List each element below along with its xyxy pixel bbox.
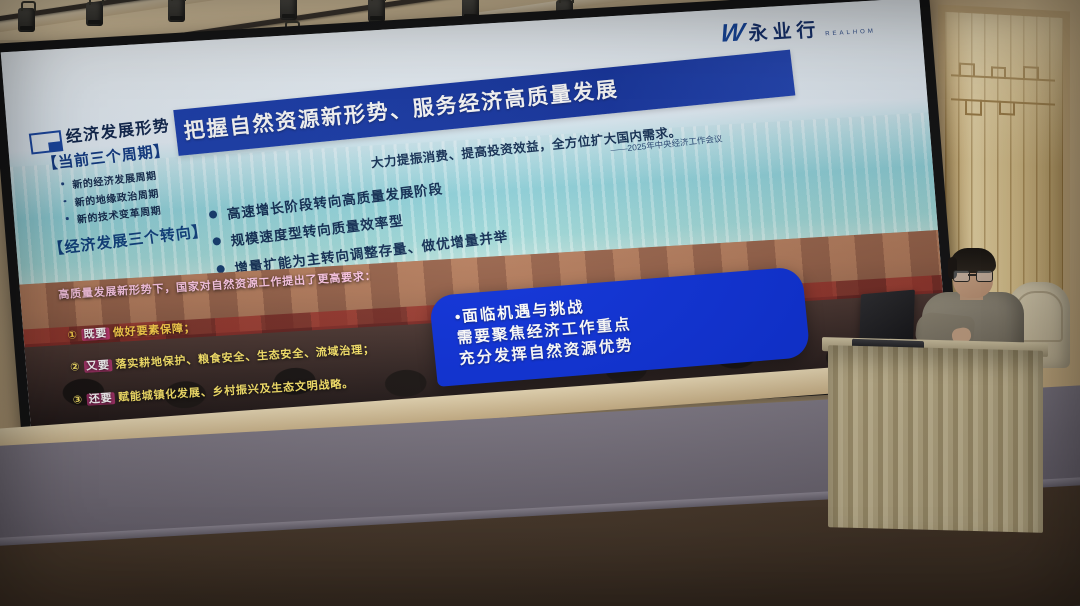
stage-light-icon: [280, 0, 297, 20]
stage-light-icon: [168, 0, 185, 22]
cycles-block: 【当前三个周期】 新的经济发展周期 新的地缘政治周期 新的技术变革周期: [41, 139, 178, 231]
cycles-list: 新的经济发展周期 新的地缘政治周期 新的技术变革周期: [60, 165, 178, 227]
logo-english-name: REALHOM: [825, 28, 876, 37]
conference-photo-scene: W 永业行 REALHOM 把握自然资源新形势、服务经济高质量发展 大力提振消费…: [0, 0, 1080, 606]
overlay-highlight-2: 又要: [84, 360, 113, 374]
presenter: [922, 252, 1024, 352]
stage-light-icon: [368, 0, 385, 22]
stage-light-icon: [18, 8, 35, 32]
company-logo: W 永业行 REALHOM: [720, 11, 877, 49]
logo-mark-icon: W: [719, 18, 743, 48]
overlay-highlight-1: 既要: [81, 327, 110, 341]
overlay-highlight-3: 还要: [86, 392, 115, 406]
overlay-num-3: ③: [72, 394, 83, 407]
table-skirt: [828, 345, 1043, 533]
panel-highlight: [945, 12, 1063, 168]
logo-chinese-name: 永业行: [748, 20, 822, 45]
stage-light-icon: [86, 2, 103, 26]
overlay-num-2: ②: [70, 362, 81, 375]
glasses-icon: [952, 270, 994, 280]
overlay-num-1: ①: [67, 329, 78, 342]
